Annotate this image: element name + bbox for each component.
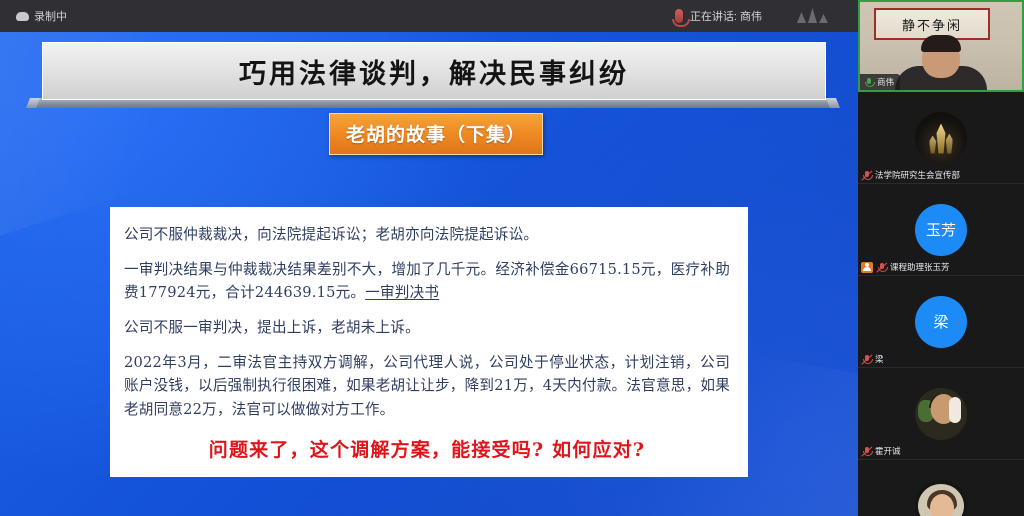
person-photo [915,388,967,440]
participant-tile-shangwei[interactable]: 静不争闲 商伟 [858,0,1024,92]
slide-content-card: 公司不服仲裁裁决，向法院提起诉讼；老胡亦向法院提起诉讼。 一审判决结果与仲裁裁决… [110,207,748,477]
participant-namebar: 法学院研究生会宣传部 [858,167,966,183]
participant-namebar: 霍开诚 [858,443,907,459]
participant-tile-partial[interactable] [858,460,1024,516]
avatar: 梁 [915,296,967,348]
mic-off-icon[interactable] [861,354,872,365]
participant-filmstrip[interactable]: 静不争闲 商伟 [858,0,1024,516]
participant-namebar: 梁 [858,351,890,367]
slide-question: 问题来了，这个调解方案，能接受吗? 如何应对? [124,435,730,466]
mic-active-icon [675,9,683,23]
participant-name: 商伟 [877,76,894,88]
recording-label: 录制中 [34,8,67,24]
participant-namebar: 课程助理张玉芳 [858,259,956,275]
recording-indicator[interactable]: 录制中 [16,8,67,24]
judgment-document-link[interactable]: 一审判决书 [365,284,439,301]
slide-title: 巧用法律谈判，解决民事纠纷 [239,52,629,91]
slide-subtitle: 老胡的故事（下集） [346,124,526,146]
meeting-window: 录制中 正在讲话: 商伟 巧用法律谈判，解决民事纠纷 老胡的故事（下集） 公司不… [0,0,1024,516]
slide-title-plaque: 巧用法律谈判，解决民事纠纷 [42,42,826,100]
avatar: 玉芳 [915,204,967,256]
mic-off-icon[interactable] [861,170,872,181]
participant-tile-faxueyuan[interactable]: 法学院研究生会宣传部 [858,92,1024,184]
night-building-photo [915,112,967,164]
avatar [915,388,967,440]
slide-paragraph-3: 公司不服一审判决，提出上诉，老胡未上诉。 [124,316,730,340]
person-photo [915,480,967,516]
shared-screen-stage: 录制中 正在讲话: 商伟 巧用法律谈判，解决民事纠纷 老胡的故事（下集） 公司不… [0,0,858,516]
avatar [915,112,967,164]
participant-avatar-area [858,460,1024,516]
participant-name: 梁 [875,353,884,365]
slide-subtitle-box: 老胡的故事（下集） [329,113,543,155]
participant-name: 霍开诚 [875,445,901,457]
meeting-top-bar: 录制中 正在讲话: 商伟 [0,0,858,32]
participant-tile-liang[interactable]: 梁 梁 [858,276,1024,368]
speaking-label: 正在讲话: 商伟 [690,8,762,24]
slide-paragraph-1: 公司不服仲裁裁决，向法院提起诉讼；老胡亦向法院提起诉讼。 [124,223,730,247]
participant-tile-zhangyufang[interactable]: 玉芳 课程助理张玉芳 [858,184,1024,276]
person-hair [921,35,961,52]
slide-paragraph-4: 2022年3月，二审法官主持双方调解，公司代理人说，公司处于停业状态，计划注销，… [124,351,730,422]
mic-on-icon[interactable] [863,77,874,88]
recording-cloud-icon [16,12,29,21]
mic-off-icon[interactable] [861,446,872,457]
cohost-icon [861,262,873,273]
mic-off-icon[interactable] [876,262,887,273]
audio-waveform-icon [797,8,828,23]
presentation-slide: 巧用法律谈判，解决民事纠纷 老胡的故事（下集） 公司不服仲裁裁决，向法院提起诉讼… [0,32,858,516]
active-speaker-indicator: 正在讲话: 商伟 [675,0,762,32]
participant-name: 课程助理张玉芳 [890,261,950,273]
avatar [915,480,967,516]
participant-tile-huokaicheng[interactable]: 霍开诚 [858,368,1024,460]
participant-name: 法学院研究生会宣传部 [875,169,960,181]
calligraphy-text: 静不争闲 [902,15,962,34]
participant-namebar: 商伟 [860,74,900,90]
slide-paragraph-2: 一审判决结果与仲裁裁决结果差别不大，增加了几千元。经济补偿金66715.15元，… [124,258,730,305]
